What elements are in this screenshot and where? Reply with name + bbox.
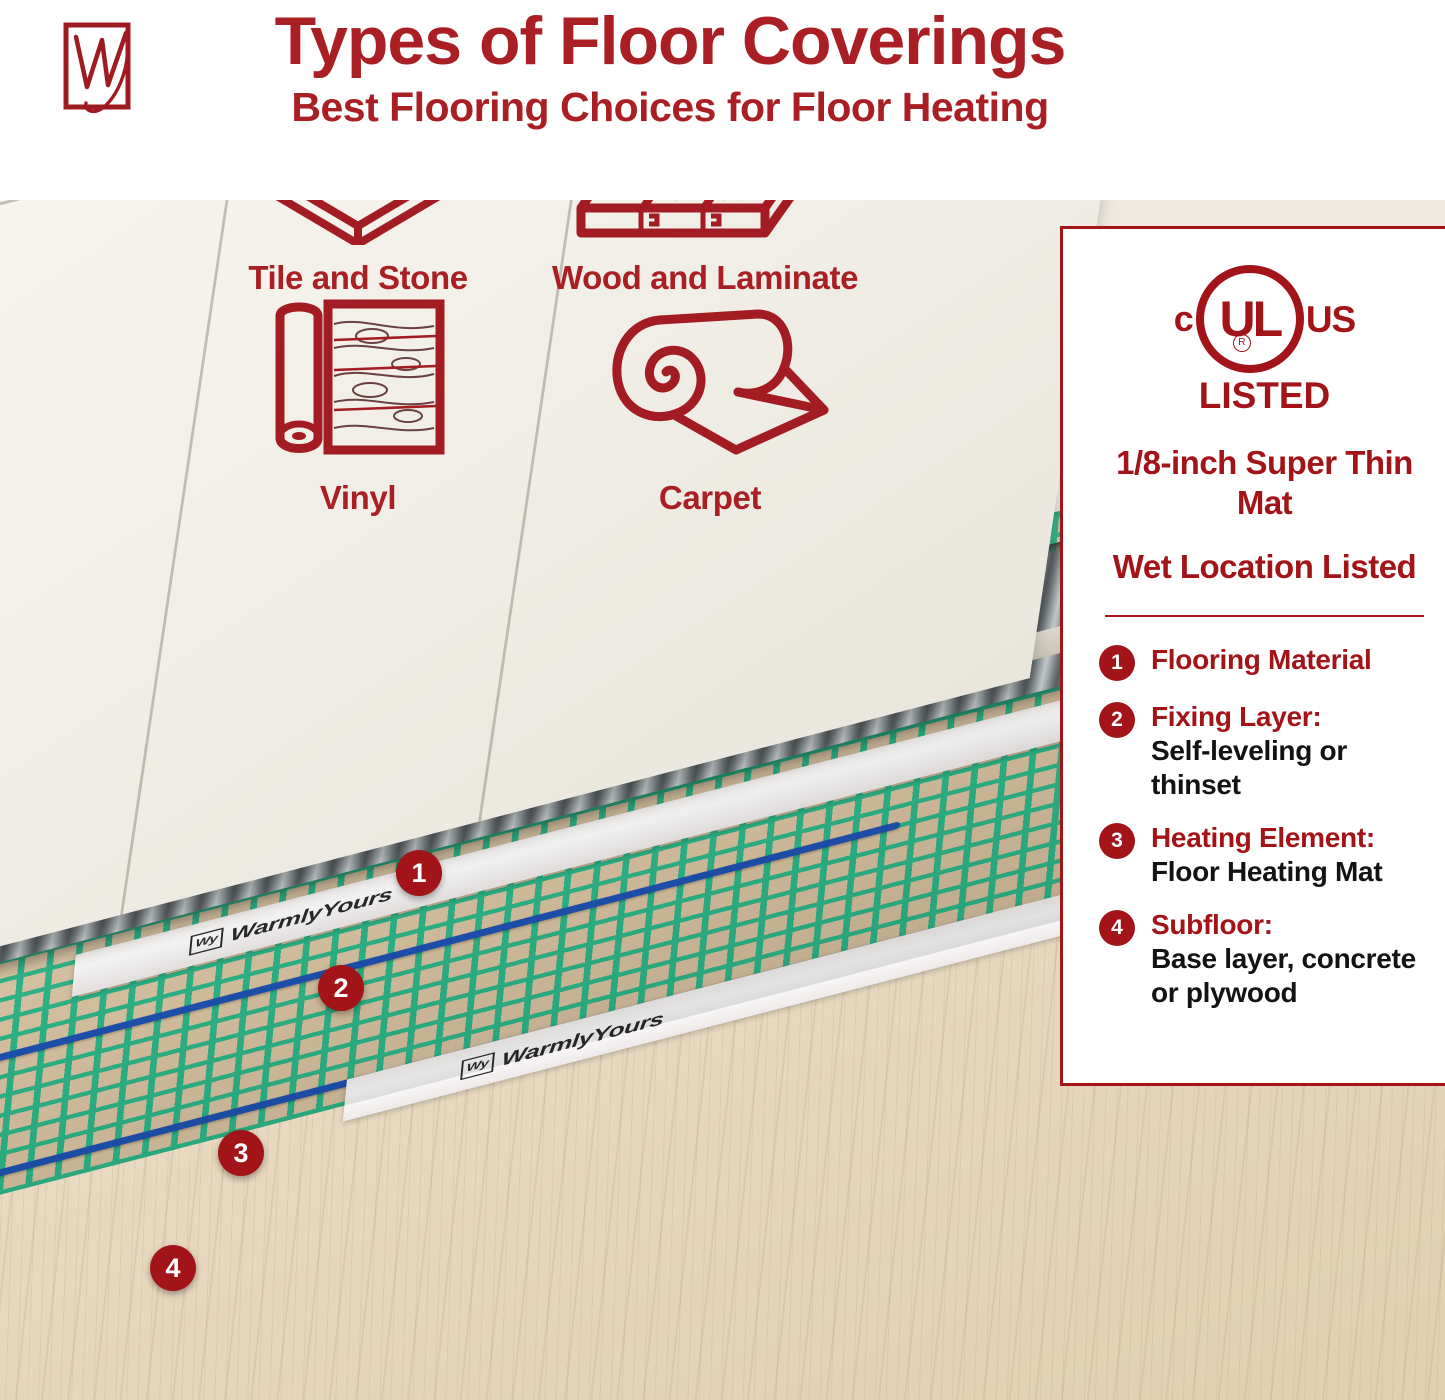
carpet-roll-icon <box>570 315 850 465</box>
legend-item-1[interactable]: 1 Flooring Material <box>1099 643 1430 681</box>
ul-listed-mark: c UL R US LISTED <box>1099 265 1430 417</box>
callout-marker-4[interactable]: 4 <box>150 1245 196 1291</box>
callout-marker-3[interactable]: 3 <box>218 1130 264 1176</box>
ul-listed-word: LISTED <box>1199 375 1331 417</box>
covering-label-carpet: Carpet <box>570 479 850 517</box>
callout-marker-2[interactable]: 2 <box>318 965 364 1011</box>
ul-letters: UL <box>1219 294 1280 344</box>
covering-label-wood: Wood and Laminate <box>540 259 870 297</box>
legend-item-3[interactable]: 3 Heating Element: Floor Heating Mat <box>1099 821 1430 889</box>
header-bar: Types of Floor Coverings Best Flooring C… <box>0 0 1445 200</box>
legend-title-4: Subfloor: <box>1151 908 1430 942</box>
legend-bullet-3: 3 <box>1099 823 1135 859</box>
legend-title-3: Heating Element: <box>1151 821 1430 855</box>
panel-headline-thin-mat: 1/8-inch Super Thin Mat <box>1099 443 1430 523</box>
page-subtitle: Best Flooring Choices for Floor Heating <box>170 82 1170 132</box>
ul-canada-prefix: c <box>1174 301 1194 337</box>
covering-item-vinyl[interactable]: Vinyl <box>248 315 468 517</box>
legend-title-1: Flooring Material <box>1151 643 1430 677</box>
legend-bullet-2: 2 <box>1099 702 1135 738</box>
layer-legend-list: 1 Flooring Material 2 Fixing Layer: Self… <box>1099 643 1430 1010</box>
title-group: Types of Floor Coverings Best Flooring C… <box>170 4 1170 132</box>
registered-trademark-icon: R <box>1233 334 1251 352</box>
panel-divider <box>1105 615 1424 617</box>
legend-item-2[interactable]: 2 Fixing Layer: Self-leveling or thinset <box>1099 700 1430 802</box>
certification-panel: c UL R US LISTED 1/8-inch Super Thin Mat… <box>1060 226 1445 1086</box>
covering-item-carpet[interactable]: Carpet <box>570 315 850 517</box>
legend-desc-2: Self-leveling or thinset <box>1151 734 1430 802</box>
legend-desc-3: Floor Heating Mat <box>1151 855 1430 889</box>
ul-mark-row: c UL R US <box>1174 265 1355 373</box>
legend-title-2: Fixing Layer: <box>1151 700 1430 734</box>
legend-item-4[interactable]: 4 Subfloor: Base layer, concrete or plyw… <box>1099 908 1430 1010</box>
legend-text-2: Fixing Layer: Self-leveling or thinset <box>1151 700 1430 802</box>
vinyl-roll-icon <box>248 315 468 465</box>
legend-text-4: Subfloor: Base layer, concrete or plywoo… <box>1151 908 1430 1010</box>
page-title: Types of Floor Coverings <box>170 4 1170 78</box>
panel-headline-wet-location: Wet Location Listed <box>1099 547 1430 587</box>
infographic-root: Wy WarmlyYours Wy WarmlyYours Wy WarmlyY… <box>0 0 1445 1400</box>
ul-circle-icon: UL R <box>1196 265 1304 373</box>
warmlyyours-logo[interactable] <box>46 15 156 115</box>
legend-bullet-4: 4 <box>1099 910 1135 946</box>
legend-text-1: Flooring Material <box>1151 643 1430 677</box>
ul-us-suffix: US <box>1306 301 1355 338</box>
legend-desc-4: Base layer, concrete or plywood <box>1151 942 1430 1010</box>
covering-label-vinyl: Vinyl <box>248 479 468 517</box>
legend-text-3: Heating Element: Floor Heating Mat <box>1151 821 1430 889</box>
callout-marker-1[interactable]: 1 <box>396 850 442 896</box>
legend-bullet-1: 1 <box>1099 645 1135 681</box>
